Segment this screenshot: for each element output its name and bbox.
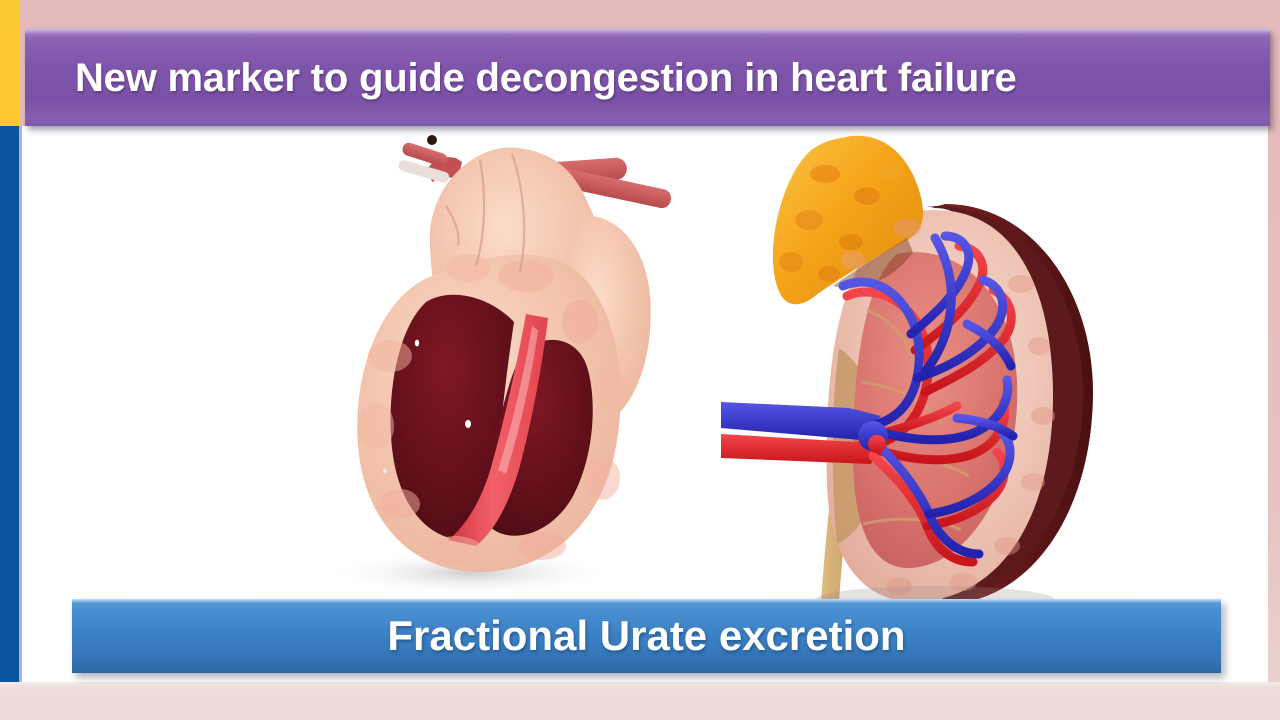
kidney-cross-section-illustration xyxy=(721,134,1121,604)
slide-root: New marker to guide decongestion in hear… xyxy=(0,0,1280,720)
heart-marker-dot-3 xyxy=(383,468,387,473)
caption-label: Fractional Urate excretion xyxy=(387,615,905,657)
slide-caption-bar: Fractional Urate excretion xyxy=(72,599,1221,673)
heart-cross-section-illustration xyxy=(280,126,720,596)
left-accent-blue-bar xyxy=(0,126,19,682)
page-title: New marker to guide decongestion in hear… xyxy=(75,58,1017,98)
slide-title-bar: New marker to guide decongestion in hear… xyxy=(25,29,1270,126)
top-pink-band xyxy=(0,0,1280,30)
bottom-pink-band xyxy=(0,682,1280,720)
heart-marker-dot-2 xyxy=(465,420,471,428)
left-accent-yellow-bar xyxy=(0,0,20,126)
heart-marker-dot-1 xyxy=(415,340,419,347)
kidney-vascular-hilum-junction-core xyxy=(868,435,886,453)
